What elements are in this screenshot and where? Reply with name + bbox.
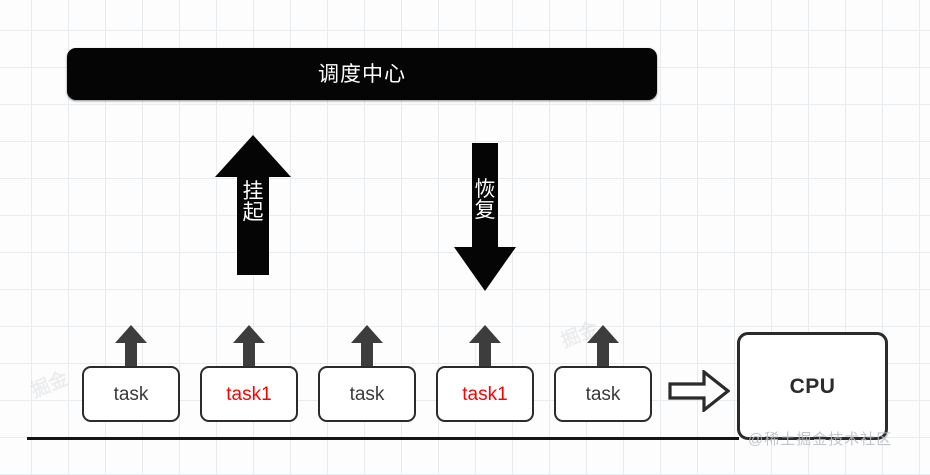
task-node[interactable]: task: [554, 366, 652, 422]
task-label: task: [350, 385, 385, 404]
task-node[interactable]: task: [318, 366, 416, 422]
resume-arrow-shape: [452, 141, 518, 293]
task-up-arrow-icon: [350, 324, 384, 370]
resume-arrow: 恢 复: [452, 141, 518, 293]
task-box[interactable]: task: [554, 366, 652, 422]
scheduler-center-label: 调度中心: [318, 64, 406, 85]
diagram-canvas: 掘金 掘金 掘金 掘金 调度中心 挂 起 恢 复 task: [0, 0, 930, 475]
task-up-arrow-icon: [586, 324, 620, 370]
task-node[interactable]: task: [82, 366, 180, 422]
watermark: @稀土掘金技术社区: [748, 432, 892, 447]
task-queue-baseline: [27, 437, 739, 440]
ghost-watermark: 掘金: [26, 364, 71, 403]
task-label: task: [114, 385, 149, 404]
dispatch-arrow-icon: [668, 370, 730, 412]
task-label: task1: [462, 385, 507, 404]
task-box[interactable]: task: [318, 366, 416, 422]
suspend-arrow-shape: [213, 133, 293, 277]
scheduler-center-node: 调度中心: [67, 48, 657, 100]
task-up-arrow-icon: [114, 324, 148, 370]
task-box[interactable]: task1: [200, 366, 298, 422]
task-label: task1: [226, 385, 271, 404]
task-label: task: [586, 385, 621, 404]
task-up-arrow-icon: [468, 324, 502, 370]
task-box[interactable]: task: [82, 366, 180, 422]
cpu-node[interactable]: CPU: [737, 332, 888, 440]
task-up-arrow-icon: [232, 324, 266, 370]
suspend-arrow: 挂 起: [213, 133, 293, 277]
task-node[interactable]: task1: [436, 366, 534, 422]
cpu-label: CPU: [790, 376, 836, 397]
task-box[interactable]: task1: [436, 366, 534, 422]
task-node[interactable]: task1: [200, 366, 298, 422]
